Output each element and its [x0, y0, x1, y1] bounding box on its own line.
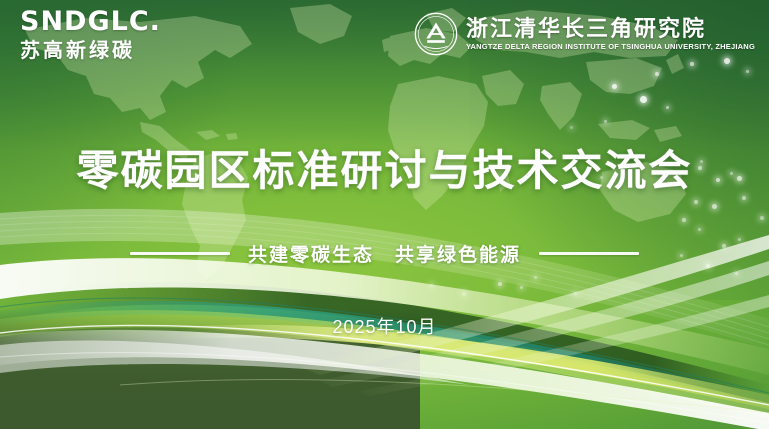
sndglc-logo[interactable]: SNDGLC. 苏高新绿碳: [20, 8, 200, 61]
tsinghua-institute-text: 浙江清华长三角研究院 YANGTZE DELTA REGION INSTITUT…: [466, 18, 755, 51]
tsinghua-institute-emblem-icon: [414, 12, 458, 56]
tsinghua-institute-cn-name: 浙江清华长三角研究院: [466, 18, 755, 40]
tsinghua-institute-en-name: YANGTZE DELTA REGION INSTITUTE OF TSINGH…: [466, 43, 755, 51]
sndglc-wordmark: SNDGLC.: [20, 8, 200, 35]
subtitle-text: 共建零碳生态 共享绿色能源: [248, 240, 521, 267]
subtitle-rule-left: [130, 252, 230, 255]
sndglc-cn-name: 苏高新绿碳: [20, 41, 200, 61]
subtitle-row: 共建零碳生态 共享绿色能源: [0, 240, 769, 267]
subtitle-rule-right: [539, 252, 639, 255]
page-title: 零碳园区标准研讨与技术交流会: [0, 148, 769, 194]
event-date: 2025年10月: [0, 313, 769, 339]
tsinghua-institute-logo[interactable]: 浙江清华长三角研究院 YANGTZE DELTA REGION INSTITUT…: [414, 12, 755, 56]
presentation-slide: SNDGLC. 苏高新绿碳 浙江清华长三角研究院 YANGTZE DELTA R…: [0, 0, 769, 429]
